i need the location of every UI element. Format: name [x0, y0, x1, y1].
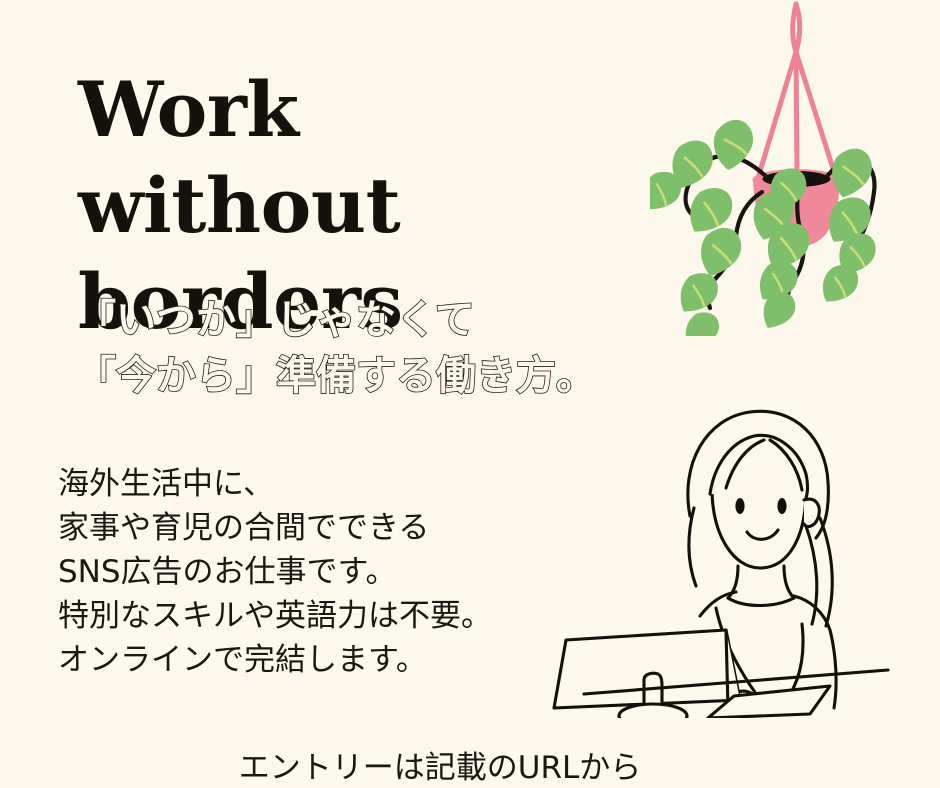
neck-right	[784, 566, 794, 598]
face-outline	[712, 488, 806, 568]
footer-cta-text: エントリーは記載のURLから	[0, 748, 880, 788]
body-right-side	[830, 630, 836, 708]
hair-strand-left	[689, 508, 696, 586]
monitor-base	[619, 704, 687, 718]
neck-base	[728, 598, 794, 606]
eye-left	[735, 498, 744, 514]
body-description: 海外生活中に、 家事や育児の合間でできる SNS広告のお仕事です。 特別なスキル…	[58, 462, 578, 682]
ear	[804, 499, 819, 526]
eye-right	[777, 498, 786, 514]
hanging-plant-illustration	[650, 0, 940, 336]
subtitle-outlined: 「いつか」じゃなくて 「今から」準備する働き方。	[76, 292, 696, 404]
woman-at-computer-illustration	[548, 378, 940, 718]
poster-canvas: Work without borders 「いつか」じゃなくて 「今から」準備す…	[0, 0, 940, 788]
plant-hanger-cords	[758, 4, 836, 178]
hair-strand-right	[820, 518, 832, 626]
